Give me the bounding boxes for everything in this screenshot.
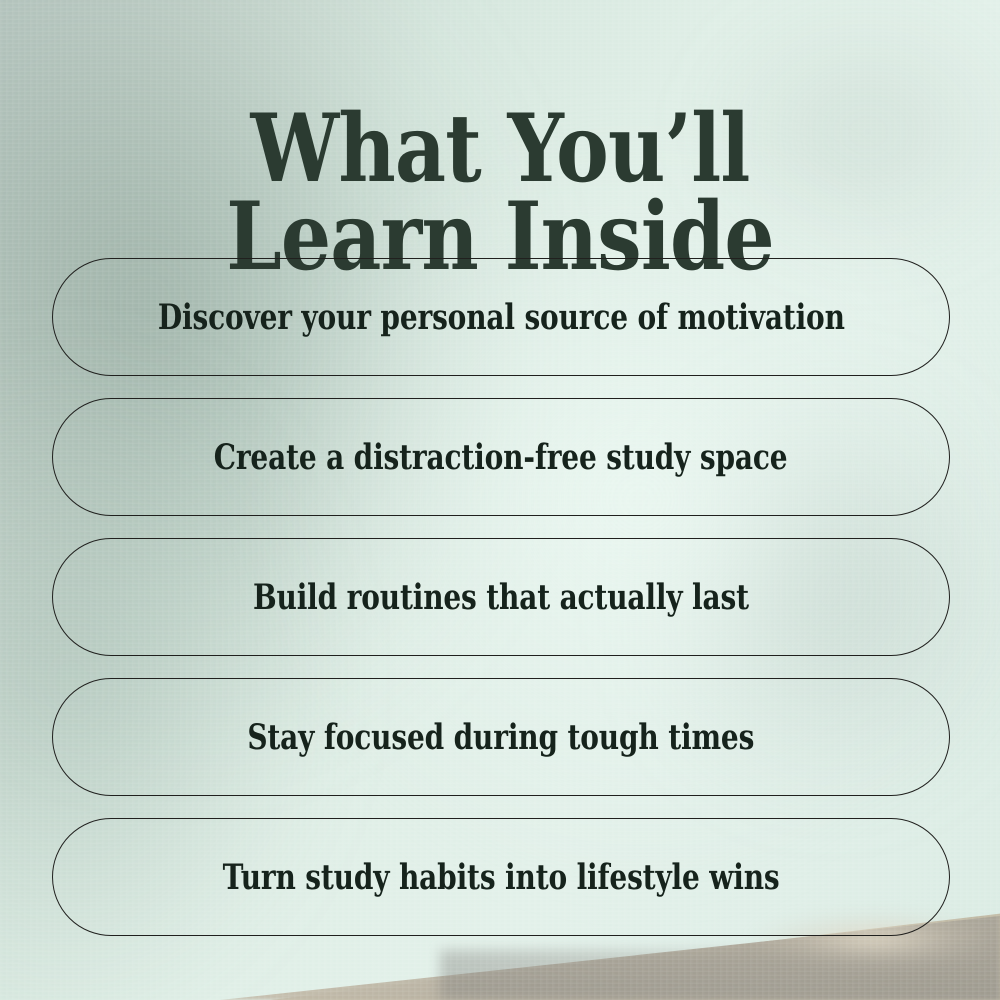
poster-canvas: What You’ll Learn Inside Discover your p… — [0, 0, 1000, 1000]
list-item-label: Discover your personal source of motivat… — [158, 300, 845, 335]
page-title-line-1: What You’ll — [80, 105, 920, 193]
list-item[interactable]: Stay focused during tough times — [52, 678, 950, 796]
list-item[interactable]: Discover your personal source of motivat… — [52, 258, 950, 376]
list-item-label: Build routines that actually last — [253, 580, 749, 615]
page-title: What You’ll Learn Inside — [80, 105, 920, 282]
content-layer: What You’ll Learn Inside Discover your p… — [0, 0, 1000, 1000]
list-item-label: Create a distraction-free study space — [214, 440, 788, 475]
list-item[interactable]: Build routines that actually last — [52, 538, 950, 656]
list-item-label: Stay focused during tough times — [248, 720, 755, 755]
benefits-list: Discover your personal source of motivat… — [52, 258, 950, 936]
list-item[interactable]: Create a distraction-free study space — [52, 398, 950, 516]
list-item[interactable]: Turn study habits into lifestyle wins — [52, 818, 950, 936]
list-item-label: Turn study habits into lifestyle wins — [223, 860, 780, 895]
